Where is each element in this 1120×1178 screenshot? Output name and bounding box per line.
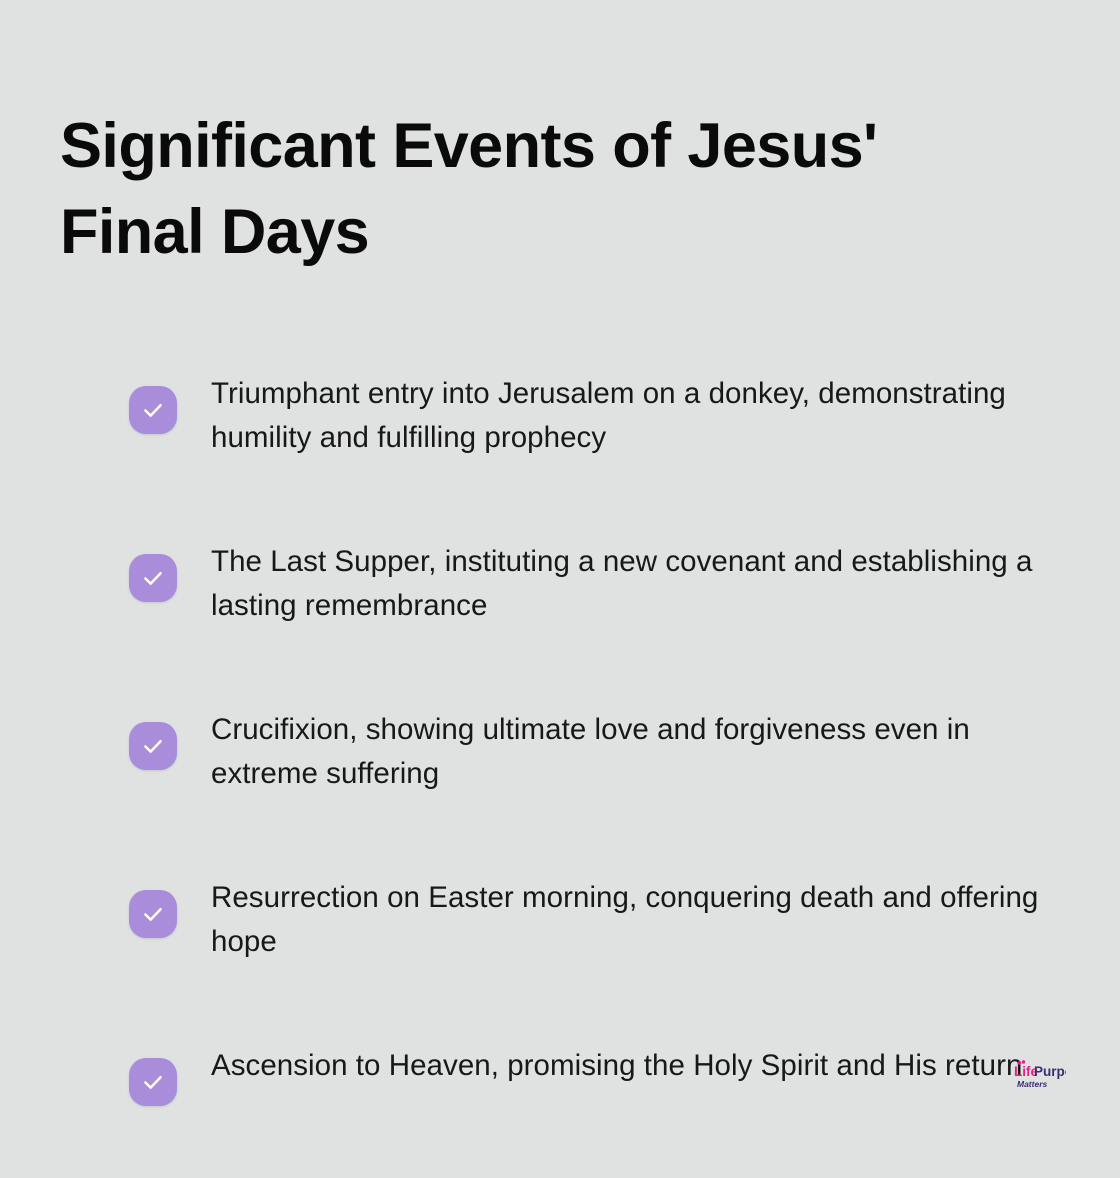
list-item-label: Ascension to Heaven, promising the Holy … [211, 1044, 1051, 1088]
list-item: The Last Supper, instituting a new coven… [129, 540, 1060, 628]
list-item: Triumphant entry into Jerusalem on a don… [129, 372, 1060, 460]
life-purpose-matters-logo[interactable]: Life Purpose Matters [984, 1048, 1066, 1096]
logo-tagline: Matters [1017, 1079, 1048, 1089]
check-icon [129, 890, 177, 938]
list-item: Resurrection on Easter morning, conqueri… [129, 876, 1060, 964]
list-item-label: The Last Supper, instituting a new coven… [211, 540, 1051, 628]
logo-word-two: Purpose [1034, 1064, 1066, 1079]
list-item: Ascension to Heaven, promising the Holy … [129, 1044, 1060, 1106]
check-icon [129, 554, 177, 602]
list-item-label: Resurrection on Easter morning, conqueri… [211, 876, 1051, 964]
infographic-card: Significant Events of Jesus' Final Days … [0, 0, 1120, 1178]
list-item: Crucifixion, showing ultimate love and f… [129, 708, 1060, 796]
list-item-label: Triumphant entry into Jerusalem on a don… [211, 372, 1051, 460]
list-item-label: Crucifixion, showing ultimate love and f… [211, 708, 1051, 796]
events-list: Triumphant entry into Jerusalem on a don… [129, 372, 1060, 1106]
check-icon [129, 1058, 177, 1106]
page-title: Significant Events of Jesus' Final Days [60, 104, 960, 275]
check-icon [129, 386, 177, 434]
check-icon [129, 722, 177, 770]
